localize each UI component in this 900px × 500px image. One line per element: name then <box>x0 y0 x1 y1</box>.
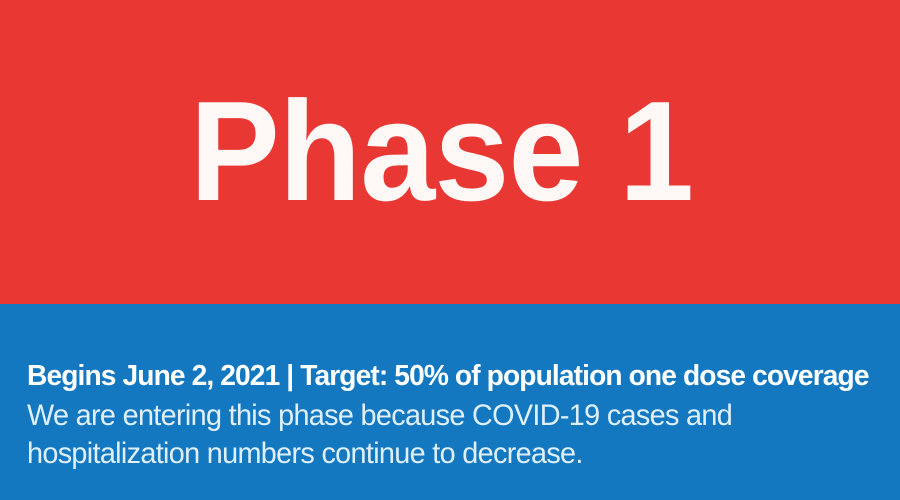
blue-detail-band: Begins June 2, 2021 | Target: 50% of pop… <box>0 304 900 500</box>
phase-announcement-poster: Phase 1 Begins June 2, 2021 | Target: 50… <box>0 0 900 500</box>
page-title: Phase 1 <box>23 0 878 304</box>
phase-headline: Begins June 2, 2021 | Target: 50% of pop… <box>27 361 875 391</box>
red-header-band: Phase 1 <box>0 0 900 304</box>
description-line-1: We are entering this phase because COVID… <box>27 397 853 435</box>
phase-description: We are entering this phase because COVID… <box>27 397 853 473</box>
description-line-2: hospitalization numbers continue to decr… <box>27 435 853 473</box>
